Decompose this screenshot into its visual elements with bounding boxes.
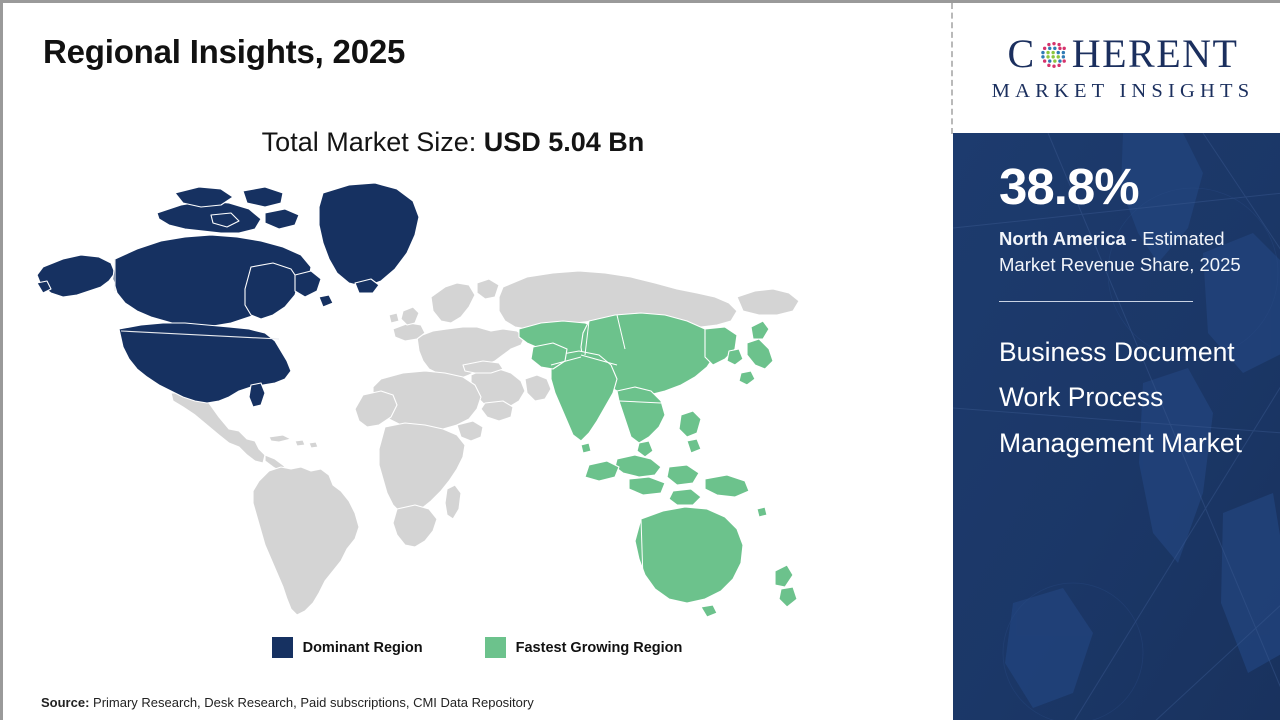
map-legend: Dominant Region Fastest Growing Region [3,637,951,658]
world-map-svg [33,179,833,619]
logo-letter-c: C [1008,34,1036,74]
vertical-dashed-divider [951,3,953,134]
logo-wordmark-rest: HERENT [1072,34,1239,74]
legend-swatch-dominant [272,637,293,658]
panel-content: 38.8% North America - Estimated Market R… [953,133,1280,466]
logo-tagline: MARKET INSIGHTS [992,81,1255,102]
stat-percentage: 38.8% [999,161,1249,212]
source-text: Primary Research, Desk Research, Paid su… [89,695,533,710]
legend-label-fastest-growing: Fastest Growing Region [516,640,683,656]
dotted-globe-icon [1037,39,1071,73]
logo-wordmark: C [1008,34,1239,74]
market-size-value: USD 5.04 Bn [484,127,645,157]
slide-root: Regional Insights, 2025 Total Market Siz… [0,0,1280,720]
total-market-size: Total Market Size: USD 5.04 Bn [3,127,903,158]
left-content-pane: Regional Insights, 2025 Total Market Siz… [3,3,951,720]
source-label: Source: [41,695,89,710]
page-title: Regional Insights, 2025 [43,33,405,71]
legend-label-dominant: Dominant Region [303,640,423,656]
map-region-north-america [37,183,419,407]
world-map [33,179,833,619]
source-note: Source: Primary Research, Desk Research,… [41,695,534,710]
map-region-asia-pacific [519,313,797,617]
brand-logo: C [963,3,1280,133]
stat-region-name: North America [999,228,1126,249]
legend-swatch-fastest-growing [485,637,506,658]
stat-description: North America - Estimated Market Revenue… [999,226,1249,279]
right-info-panel: 38.8% North America - Estimated Market R… [953,133,1280,720]
market-name-title: Business Document Work Process Managemen… [999,330,1249,467]
legend-item-fastest-growing: Fastest Growing Region [485,637,683,658]
market-size-label: Total Market Size: [262,127,484,157]
panel-horizontal-rule [999,301,1193,302]
legend-item-dominant: Dominant Region [272,637,423,658]
